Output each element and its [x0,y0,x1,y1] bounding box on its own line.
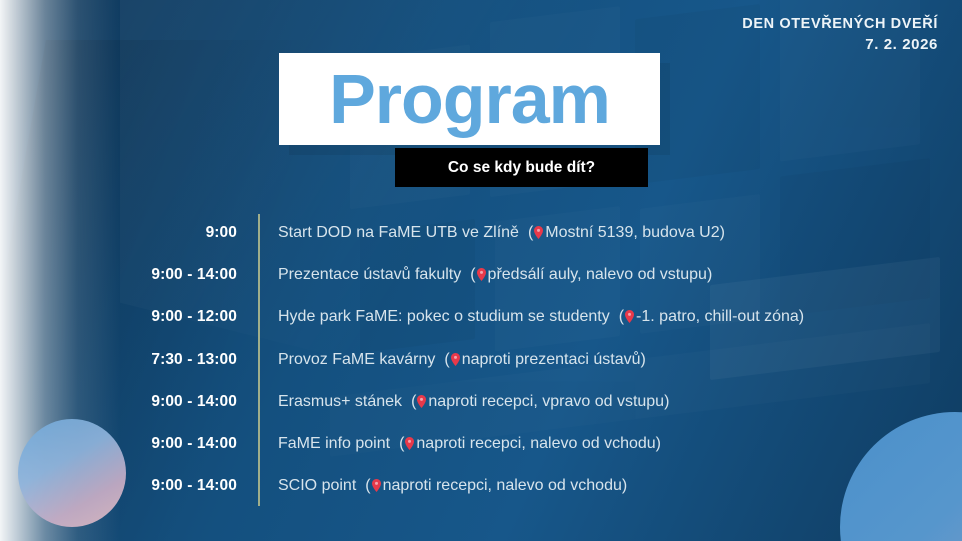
map-pin-icon [477,268,486,281]
schedule-rows: 9:00Start DOD na FaME UTB ve Zlíně(Mostn… [0,212,962,507]
row-location: naproti prezentaci ústavů [462,351,641,369]
row-activity: SCIO point [278,477,356,495]
row-description: Erasmus+ stánek(naproti recepci, vpravo … [278,393,669,411]
event-date: 7. 2. 2026 [742,34,938,56]
header-meta: DEN OTEVŘENÝCH DVEŘÍ 7. 2. 2026 [742,14,938,56]
row-activity: Hyde park FaME: pokec o studium se stude… [278,308,610,326]
row-description: Start DOD na FaME UTB ve Zlíně(Mostní 51… [278,224,725,242]
row-location: naproti recepci, nalevo od vchodu [416,435,655,453]
open-paren: ( [411,393,416,411]
row-time: 9:00 - 14:00 [0,477,237,495]
table-row: 9:00 - 14:00SCIO point(naproti recepci, … [0,465,962,507]
open-paren: ( [444,351,449,369]
close-paren: ) [799,308,804,326]
open-paren: ( [399,435,404,453]
close-paren: ) [664,393,669,411]
schedule-list: 9:00Start DOD na FaME UTB ve Zlíně(Mostn… [0,212,962,508]
map-pin-icon [625,310,634,323]
row-location: Mostní 5139, budova U2 [545,224,719,242]
row-description: Provoz FaME kavárny(naproti prezentaci ú… [278,351,646,369]
row-activity: Prezentace ústavů fakulty [278,266,461,284]
table-row: 7:30 - 13:00Provoz FaME kavárny(naproti … [0,339,962,381]
table-row: 9:00 - 12:00Hyde park FaME: pokec o stud… [0,296,962,338]
row-description: Hyde park FaME: pokec o studium se stude… [278,308,804,326]
row-time: 7:30 - 13:00 [0,351,237,369]
map-pin-icon [372,479,381,492]
row-location-group: (-1. patro, chill-out zóna) [619,308,804,326]
row-location-group: (naproti recepci, nalevo od vchodu) [365,477,627,495]
page-subtitle: Co se kdy bude dít? [448,159,595,177]
open-paren: ( [470,266,475,284]
row-location: -1. patro, chill-out zóna [636,308,799,326]
table-row: 9:00 - 14:00Prezentace ústavů fakulty(př… [0,254,962,296]
row-description: Prezentace ústavů fakulty(předsálí auly,… [278,266,712,284]
row-time: 9:00 - 14:00 [0,435,237,453]
row-time: 9:00 - 14:00 [0,393,237,411]
close-paren: ) [656,435,661,453]
event-label: DEN OTEVŘENÝCH DVEŘÍ [742,14,938,34]
row-activity: Start DOD na FaME UTB ve Zlíně [278,224,519,242]
close-paren: ) [622,477,627,495]
map-pin-icon [534,226,543,239]
table-row: 9:00 - 14:00Erasmus+ stánek(naproti rece… [0,381,962,423]
open-paren: ( [365,477,370,495]
row-activity: FaME info point [278,435,390,453]
program-slide: DEN OTEVŘENÝCH DVEŘÍ 7. 2. 2026 Program … [0,0,962,541]
row-location-group: (předsálí auly, nalevo od vstupu) [470,266,712,284]
page-title: Program [329,64,610,134]
row-location: naproti recepci, nalevo od vchodu [383,477,622,495]
row-time: 9:00 - 12:00 [0,308,237,326]
title-banner: Program [279,53,660,145]
row-description: FaME info point(naproti recepci, nalevo … [278,435,661,453]
open-paren: ( [619,308,624,326]
row-description: SCIO point(naproti recepci, nalevo od vc… [278,477,627,495]
table-row: 9:00Start DOD na FaME UTB ve Zlíně(Mostn… [0,212,962,254]
close-paren: ) [720,224,725,242]
table-row: 9:00 - 14:00FaME info point(naproti rece… [0,423,962,465]
row-location-group: (naproti prezentaci ústavů) [444,351,645,369]
row-activity: Provoz FaME kavárny [278,351,435,369]
subtitle-banner: Co se kdy bude dít? [395,148,648,187]
row-location-group: (Mostní 5139, budova U2) [528,224,725,242]
row-activity: Erasmus+ stánek [278,393,402,411]
row-time: 9:00 [0,224,237,242]
row-location: naproti recepci, vpravo od vstupu [428,393,664,411]
open-paren: ( [528,224,533,242]
close-paren: ) [707,266,712,284]
row-time: 9:00 - 14:00 [0,266,237,284]
close-paren: ) [641,351,646,369]
row-location-group: (naproti recepci, vpravo od vstupu) [411,393,669,411]
map-pin-icon [405,437,414,450]
map-pin-icon [417,395,426,408]
map-pin-icon [451,353,460,366]
row-location-group: (naproti recepci, nalevo od vchodu ) [399,435,661,453]
row-location: předsálí auly, nalevo od vstupu [488,266,707,284]
